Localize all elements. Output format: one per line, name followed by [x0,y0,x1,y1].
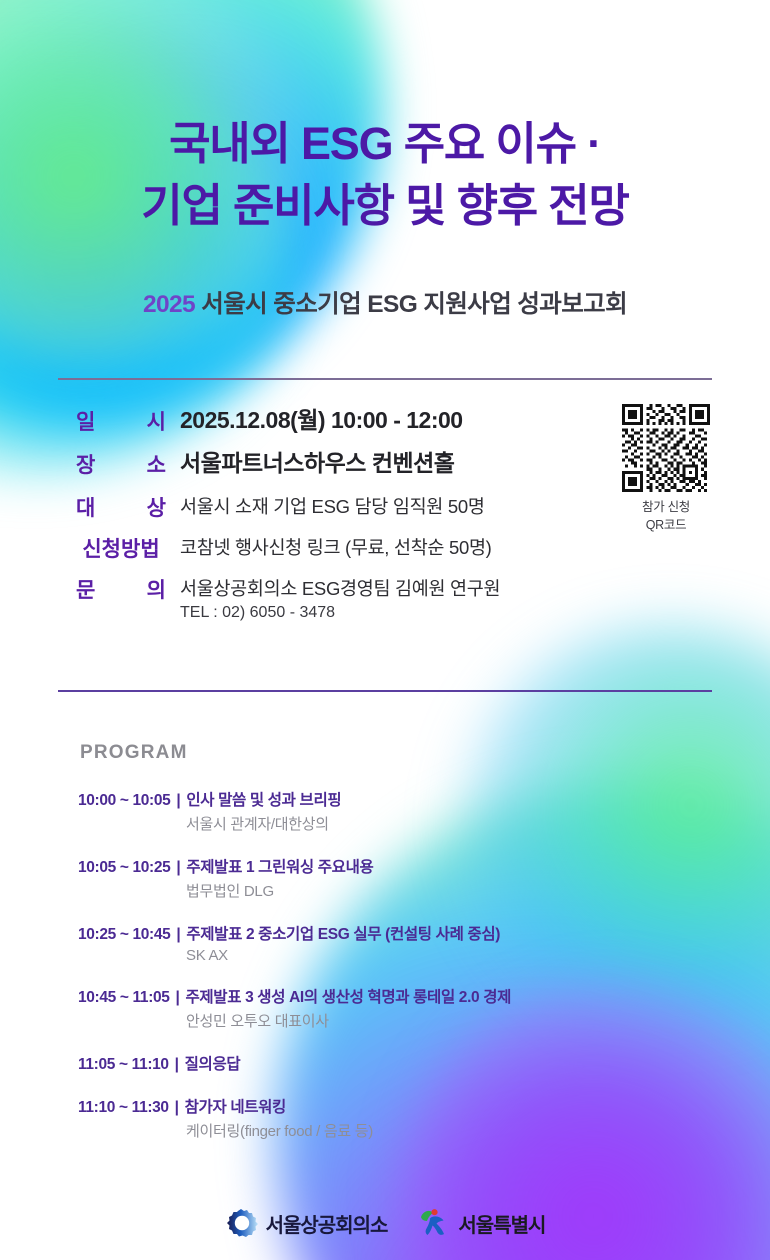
kcci-gear-icon [225,1209,259,1237]
program-item-time: 10:05 ~ 10:25 [78,859,170,876]
divider-top [58,378,712,380]
program-item-separator: | [174,926,182,943]
info-label-char: 일 [76,406,95,436]
program-item: 10:00 ~ 10:05 | 인사 말씀 및 성과 브리핑 서울시 관계자/대… [78,788,678,834]
qr-caption-line-2: QR코드 [620,516,712,534]
program-item: 11:10 ~ 11:30 | 참가자 네트워킹 케이터링(finger foo… [78,1095,678,1141]
program-item-time: 10:45 ~ 11:05 [78,989,170,1006]
program-item-title: 질의응답 [185,1056,241,1073]
program-item-title: 주제발표 2 중소기업 ESG 실무 (컨설팅 사례 중심) [186,926,500,943]
program-item-time: 11:10 ~ 11:30 [78,1099,169,1116]
info-label-char: 시 [147,406,166,436]
contact-person: 서울상공회의소 ESG경영팀 김예원 연구원 [180,578,500,599]
qr-caption-line-1: 참가 신청 [620,498,712,516]
info-value-registration: 코참넷 행사신청 링크 (무료, 선착순 50명) [180,533,492,560]
subtitle-year: 2025 [143,291,195,318]
program-item: 10:25 ~ 10:45 | 주제발표 2 중소기업 ESG 실무 (컨설팅 … [78,922,678,964]
program-list: 10:00 ~ 10:05 | 인사 말씀 및 성과 브리핑 서울시 관계자/대… [78,788,678,1141]
info-value-datetime: 2025.12.08(월) 10:00 - 12:00 [180,406,463,435]
program-item-title: 주제발표 3 생성 AI의 생산성 혁명과 롱테일 2.0 경제 [185,989,511,1006]
seoul-person-icon [419,1208,451,1238]
info-row-contact: 문 의 서울상공회의소 ESG경영팀 김예원 연구원 TEL : 02) 605… [62,574,582,623]
info-label-char: 의 [147,574,166,604]
info-label-datetime: 일 시 [62,406,180,436]
program-item-speaker: 안성민 오투오 대표이사 [186,1010,678,1031]
info-label-char: 상 [147,492,166,522]
program-item-title: 참가자 네트워킹 [185,1099,286,1116]
event-poster: 국내외 ESG 주요 이슈 · 기업 준비사항 및 향후 전망 2025 서울시… [0,0,770,1260]
program-item-title: 인사 말씀 및 성과 브리핑 [186,792,341,809]
program-item-head: 10:00 ~ 10:05 | 인사 말씀 및 성과 브리핑 [78,788,678,810]
qr-caption: 참가 신청 QR코드 [620,498,712,534]
info-row-audience: 대 상 서울시 소재 기업 ESG 담당 임직원 50명 [62,492,582,522]
info-label-char: 대 [76,492,95,522]
info-label-char: 소 [147,449,166,479]
info-label-char: 문 [76,574,95,604]
program-item-separator: | [173,1099,181,1116]
poster-subtitle: 2025 서울시 중소기업 ESG 지원사업 성과보고회 [0,285,770,320]
headline-line-2: 기업 준비사항 및 향후 전망 [0,175,770,237]
info-value-venue: 서울파트너스하우스 컨벤션홀 [180,449,454,478]
logo-seoul-metropolitan-government: 서울특별시 [419,1208,545,1238]
info-value-contact: 서울상공회의소 ESG경영팀 김예원 연구원 TEL : 02) 6050 - … [180,574,500,623]
footer-logos: 서울상공회의소 서울특별시 [0,1208,770,1238]
contact-phone: TEL : 02) 6050 - 3478 [180,603,500,623]
info-row-datetime: 일 시 2025.12.08(월) 10:00 - 12:00 [62,406,582,436]
logo-seoul-chamber-of-commerce: 서울상공회의소 [225,1209,388,1238]
info-label-char: 장 [76,449,95,479]
info-label-registration: 신청방법 [62,533,180,563]
program-item-head: 11:05 ~ 11:10 | 질의응답 [78,1052,678,1074]
program-item-speaker: SK AX [186,947,678,964]
info-value-audience: 서울시 소재 기업 ESG 담당 임직원 50명 [180,492,485,519]
poster-headline: 국내외 ESG 주요 이슈 · 기업 준비사항 및 향후 전망 [0,113,770,237]
program-item: 11:05 ~ 11:10 | 질의응답 [78,1052,678,1074]
info-row-venue: 장 소 서울파트너스하우스 컨벤션홀 [62,449,582,479]
qr-code-icon[interactable] [622,404,710,492]
program-item-separator: | [174,989,182,1006]
info-label-audience: 대 상 [62,492,180,522]
program-item-separator: | [174,859,182,876]
event-info-table: 일 시 2025.12.08(월) 10:00 - 12:00 장 소 서울파트… [62,406,582,634]
info-label-contact: 문 의 [62,574,180,604]
logo-label-chamber: 서울상공회의소 [266,1209,388,1238]
program-item-speaker: 법무법인 DLG [186,880,678,901]
program-heading: PROGRAM [80,742,188,764]
program-item-title: 주제발표 1 그린워싱 주요내용 [186,859,373,876]
program-item: 10:45 ~ 11:05 | 주제발표 3 생성 AI의 생산성 혁명과 롱테… [78,985,678,1031]
info-row-registration: 신청방법 코참넷 행사신청 링크 (무료, 선착순 50명) [62,533,582,563]
program-item-head: 11:10 ~ 11:30 | 참가자 네트워킹 [78,1095,678,1117]
program-item-speaker: 서울시 관계자/대한상의 [186,813,678,834]
info-label-venue: 장 소 [62,449,180,479]
program-item-head: 10:25 ~ 10:45 | 주제발표 2 중소기업 ESG 실무 (컨설팅 … [78,922,678,944]
headline-line-1: 국내외 ESG 주요 이슈 · [0,113,770,175]
program-item: 10:05 ~ 10:25 | 주제발표 1 그린워싱 주요내용 법무법인 DL… [78,855,678,901]
program-item-time: 10:25 ~ 10:45 [78,926,170,943]
program-item-separator: | [174,792,182,809]
registration-qr-block[interactable]: 참가 신청 QR코드 [620,404,712,534]
program-item-time: 10:00 ~ 10:05 [78,792,170,809]
program-item-head: 10:45 ~ 11:05 | 주제발표 3 생성 AI의 생산성 혁명과 롱테… [78,985,678,1007]
program-item-speaker: 케이터링(finger food / 음료 등) [186,1120,678,1141]
divider-middle [58,690,712,692]
program-item-separator: | [173,1056,181,1073]
program-item-head: 10:05 ~ 10:25 | 주제발표 1 그린워싱 주요내용 [78,855,678,877]
program-item-time: 11:05 ~ 11:10 [78,1056,169,1073]
logo-label-seoul: 서울특별시 [458,1209,545,1238]
subtitle-text: 서울시 중소기업 ESG 지원사업 성과보고회 [195,291,627,318]
